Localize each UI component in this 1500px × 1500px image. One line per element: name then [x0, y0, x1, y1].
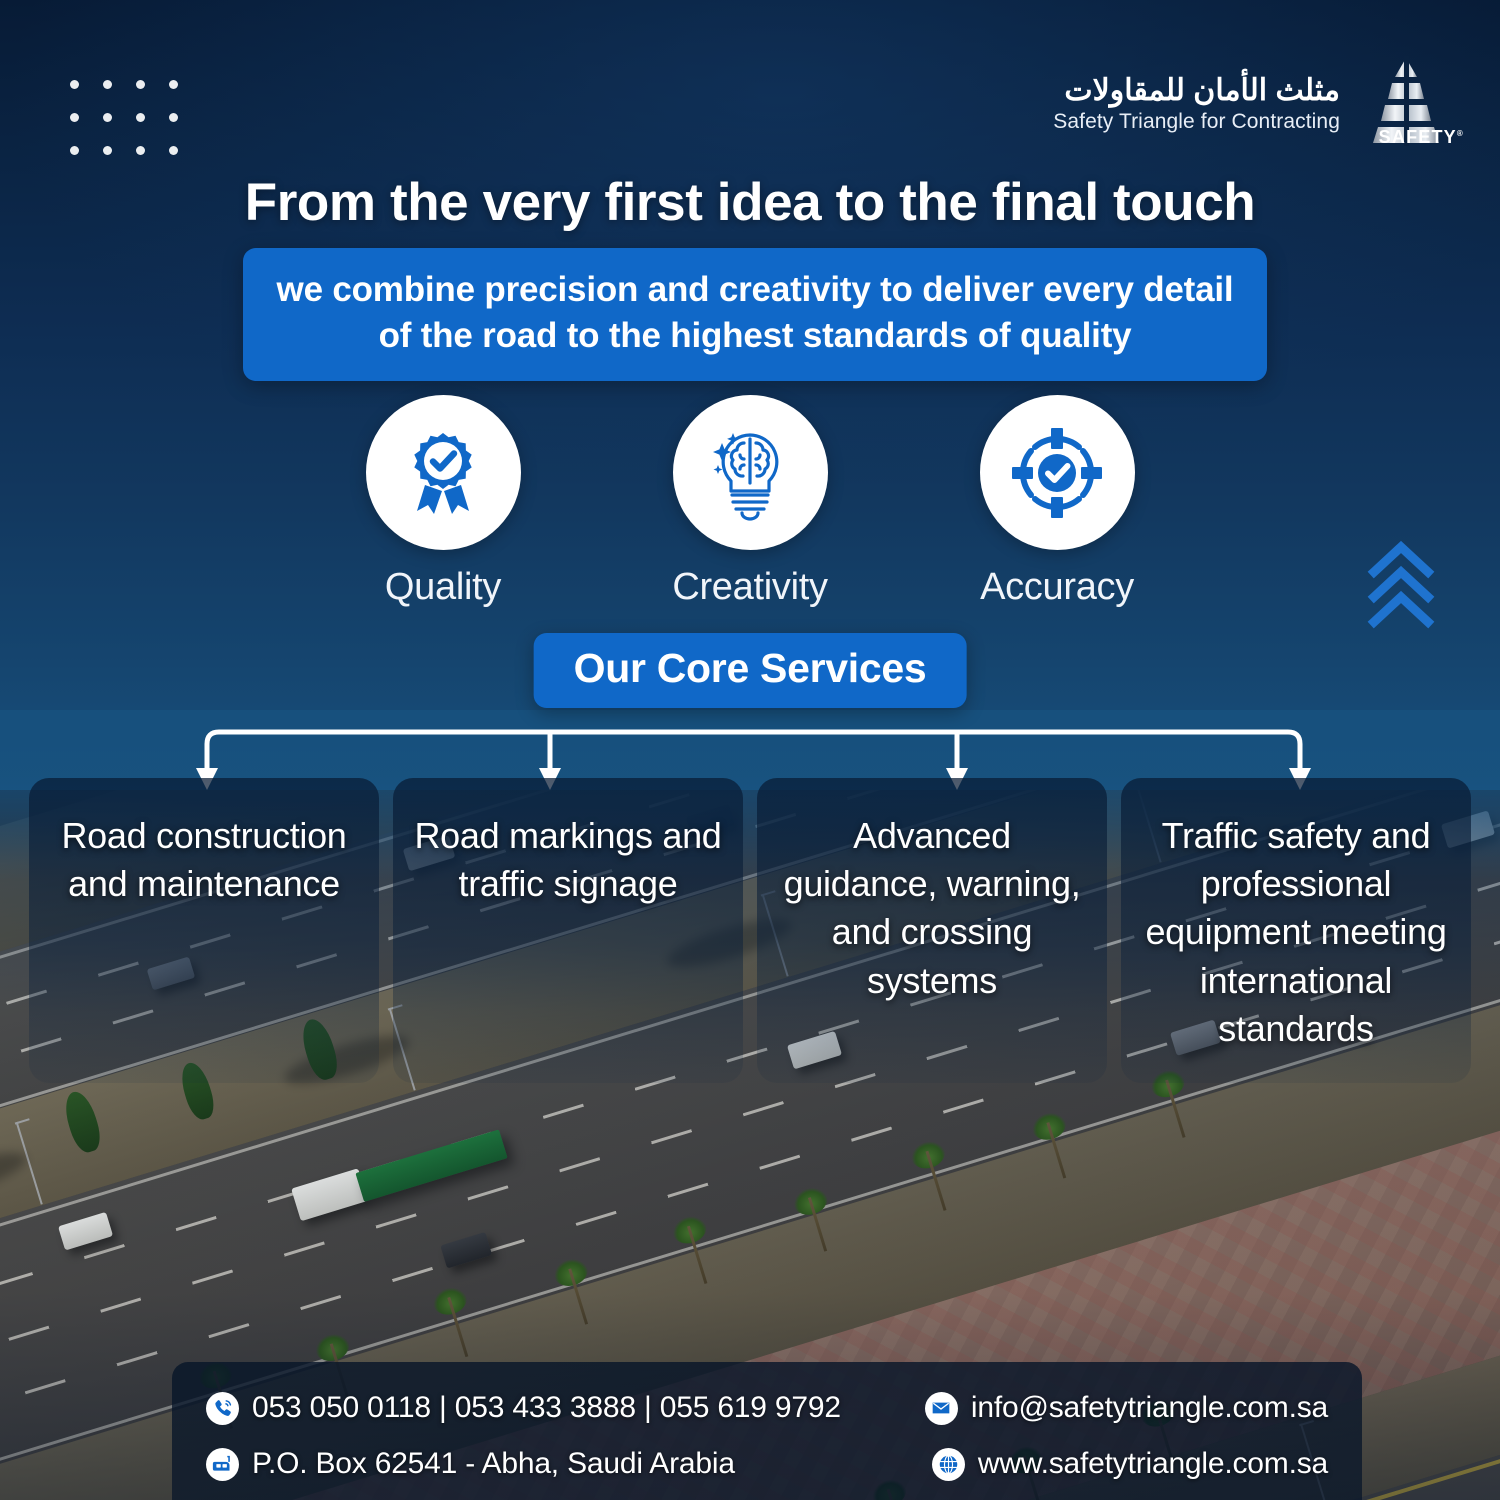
value-creativity: Creativity	[665, 395, 835, 609]
envelope-icon	[925, 1392, 958, 1425]
website-text: www.safetytriangle.com.sa	[978, 1447, 1328, 1481]
dot-grid-decoration	[70, 80, 202, 179]
contact-email[interactable]: info@safetytriangle.com.sa	[925, 1391, 1328, 1425]
value-quality: Quality	[358, 395, 528, 609]
core-services-title: Our Core Services	[534, 633, 967, 708]
award-ribbon-check-icon	[366, 395, 521, 550]
value-pillars: Quality	[0, 395, 1500, 609]
service-card-text: Road construction and maintenance	[47, 812, 361, 908]
value-label: Quality	[358, 566, 528, 609]
service-card-text: Traffic safety and professional equipmen…	[1139, 812, 1453, 1053]
service-card: Traffic safety and professional equipmen…	[1121, 778, 1471, 1083]
contact-footer: 053 050 0118 | 053 433 3888 | 055 619 97…	[172, 1362, 1362, 1500]
contact-pobox: P.O. Box 62541 - Abha, Saudi Arabia	[206, 1447, 735, 1481]
value-label: Creativity	[665, 566, 835, 609]
service-cards: Road construction and maintenance Road m…	[0, 778, 1500, 1083]
value-label: Accuracy	[972, 566, 1142, 609]
logo-english-name: Safety Triangle for Contracting	[1053, 111, 1340, 133]
contact-phones[interactable]: 053 050 0118 | 053 433 3888 | 055 619 97…	[206, 1391, 841, 1425]
brain-lightbulb-icon	[673, 395, 828, 550]
logo-safety-text: SAFETY®	[1379, 127, 1464, 148]
page-headline: From the very first idea to the final to…	[0, 172, 1500, 233]
service-card: Advanced guidance, warning, and crossing…	[757, 778, 1107, 1083]
logo-arabic-name: مثلث الأمان للمقاولات	[1053, 75, 1340, 107]
target-check-icon	[980, 395, 1135, 550]
value-accuracy: Accuracy	[972, 395, 1142, 609]
contact-row-secondary: P.O. Box 62541 - Abha, Saudi Arabia www.…	[206, 1440, 1328, 1488]
email-text: info@safetytriangle.com.sa	[971, 1391, 1328, 1425]
chevron-up-icon	[1364, 540, 1438, 637]
service-card: Road markings and traffic signage	[393, 778, 743, 1083]
pyramid-logo-icon: SAFETY®	[1354, 52, 1458, 156]
service-card: Road construction and maintenance	[29, 778, 379, 1083]
pobox-text: P.O. Box 62541 - Abha, Saudi Arabia	[252, 1447, 735, 1481]
company-logo: مثلث الأمان للمقاولات Safety Triangle fo…	[1053, 52, 1458, 156]
service-card-text: Advanced guidance, warning, and crossing…	[775, 812, 1089, 1005]
globe-icon	[932, 1448, 965, 1481]
poster-canvas: مثلث الأمان للمقاولات Safety Triangle fo…	[0, 0, 1500, 1500]
subheadline-banner: we combine precision and creativity to d…	[243, 248, 1267, 381]
mailbox-icon	[206, 1448, 239, 1481]
phone-numbers-text: 053 050 0118 | 053 433 3888 | 055 619 97…	[252, 1391, 841, 1425]
contact-row-primary: 053 050 0118 | 053 433 3888 | 055 619 97…	[206, 1384, 1328, 1432]
contact-website[interactable]: www.safetytriangle.com.sa	[932, 1447, 1328, 1481]
service-card-text: Road markings and traffic signage	[411, 812, 725, 908]
phone-icon	[206, 1392, 239, 1425]
